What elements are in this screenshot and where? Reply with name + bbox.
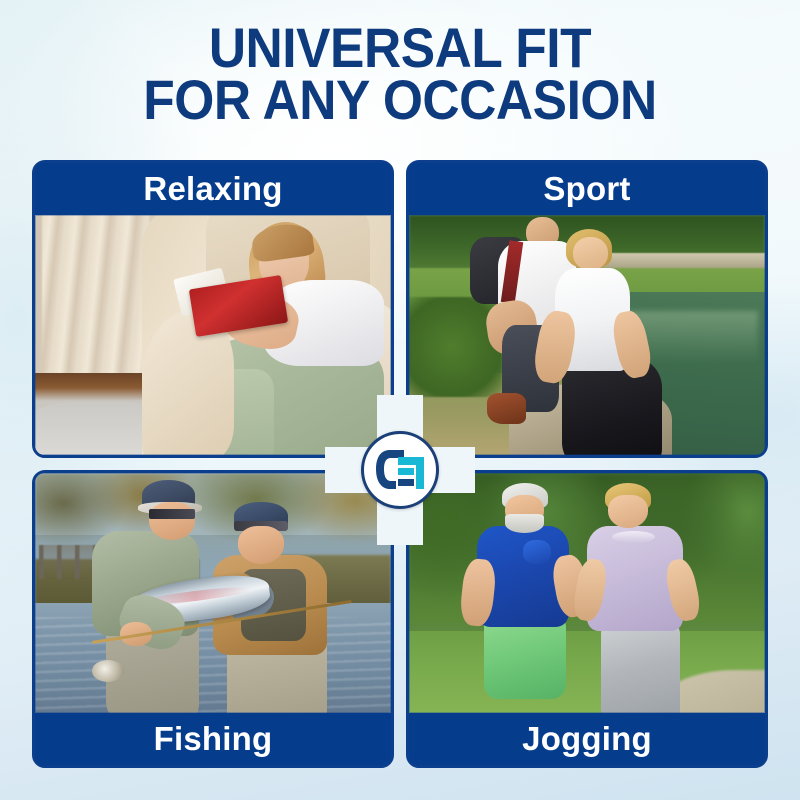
brand-logo-badge bbox=[361, 431, 439, 509]
jogging-woman-pants bbox=[601, 622, 679, 713]
panel-fishing[interactable]: Fishing bbox=[32, 470, 394, 768]
panel-jogging[interactable]: Jogging bbox=[406, 470, 768, 768]
panel-caption-fishing: Fishing bbox=[35, 713, 391, 765]
photo-sport bbox=[409, 215, 765, 455]
fishing-left-face bbox=[149, 502, 195, 540]
brand-logo-icon bbox=[374, 448, 426, 492]
jogging-man-shorts bbox=[484, 617, 566, 699]
sport-woman-face bbox=[573, 237, 609, 271]
panel-caption-relaxing: Relaxing bbox=[35, 163, 391, 215]
page-title: UNIVERSAL FIT FOR ANY OCCASION bbox=[0, 22, 800, 126]
fishing-left-sunglasses bbox=[149, 509, 195, 519]
jogging-woman-face bbox=[608, 495, 647, 529]
panel-sport[interactable]: Sport bbox=[406, 160, 768, 458]
panel-relaxing[interactable]: Relaxing bbox=[32, 160, 394, 458]
sport-woman-legs bbox=[562, 359, 662, 455]
panel-caption-jogging: Jogging bbox=[409, 713, 765, 765]
headline-line-2: FOR ANY OCCASION bbox=[32, 74, 768, 126]
jogging-woman-neckline bbox=[612, 531, 655, 543]
fishing-right-face bbox=[238, 526, 284, 564]
photo-jogging bbox=[409, 473, 765, 713]
photo-fishing bbox=[35, 473, 391, 713]
fishing-reel bbox=[92, 660, 124, 682]
sport-man-boot bbox=[487, 393, 526, 424]
photo-relaxing bbox=[35, 215, 391, 455]
panel-caption-sport: Sport bbox=[409, 163, 765, 215]
jogging-man-shirt-logo bbox=[523, 540, 551, 564]
jogging-man-beard bbox=[505, 514, 544, 533]
headline-line-1: UNIVERSAL FIT bbox=[32, 22, 768, 74]
